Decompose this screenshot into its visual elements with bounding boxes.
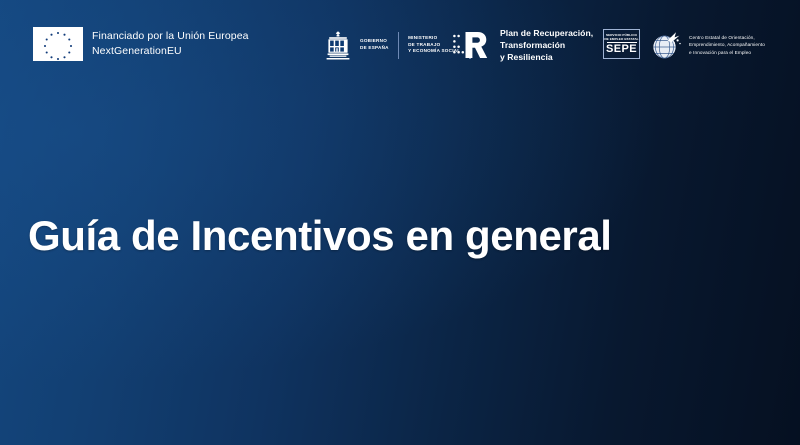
- gobierno-line2: DE ESPAÑA: [360, 45, 389, 52]
- gobierno-ministerio-logo: GOBIERNO DE ESPAÑA MINISTERIO DE TRABAJO…: [325, 28, 471, 62]
- ceoei-text: Centro Estatal de Orientación, Emprendim…: [689, 34, 765, 57]
- eu-funding-logo: Financiado por la Unión Europea NextGene…: [33, 27, 249, 61]
- ceoei-line2: Emprendimiento, Acompañamiento: [689, 41, 765, 49]
- eu-stars-icon: [33, 27, 83, 61]
- spain-coat-of-arms-icon: [325, 30, 351, 61]
- presentation-slide: Financiado por la Unión Europea NextGene…: [0, 0, 800, 445]
- eu-funding-line1: Financiado por la Unión Europea: [92, 29, 249, 44]
- ceoei-line3: e Innovación para el Empleo: [689, 49, 765, 57]
- plan-recuperacion-r-icon: [452, 28, 492, 62]
- sepe-acronym: SEPE: [606, 44, 637, 55]
- logo-separator: [398, 32, 399, 59]
- gobierno-line1: GOBIERNO: [360, 38, 389, 45]
- eu-funding-line2: NextGenerationEU: [92, 44, 249, 59]
- plan-line3: y Resiliencia: [500, 51, 593, 63]
- plan-recuperacion-text: Plan de Recuperación, Transformación y R…: [500, 27, 593, 64]
- ceoei-line1: Centro Estatal de Orientación,: [689, 34, 765, 42]
- globe-icon: [650, 29, 682, 61]
- plan-line2: Transformación: [500, 39, 593, 51]
- plan-recuperacion-logo: Plan de Recuperación, Transformación y R…: [452, 26, 593, 64]
- slide-title: Guía de Incentivos en general: [28, 212, 612, 259]
- funding-logo-bar: Financiado por la Unión Europea NextGene…: [0, 0, 800, 88]
- ceoei-logo: Centro Estatal de Orientación, Emprendim…: [650, 28, 765, 62]
- plan-line1: Plan de Recuperación,: [500, 27, 593, 39]
- sepe-logo: SERVICIO PÚBLICO DE EMPLEO ESTATAL SEPE: [603, 29, 640, 59]
- eu-funding-text: Financiado por la Unión Europea NextGene…: [92, 29, 249, 59]
- sepe-top-line2: DE EMPLEO ESTATAL: [604, 37, 638, 41]
- gobierno-text: GOBIERNO DE ESPAÑA: [360, 38, 389, 52]
- eu-flag-icon: [33, 27, 83, 61]
